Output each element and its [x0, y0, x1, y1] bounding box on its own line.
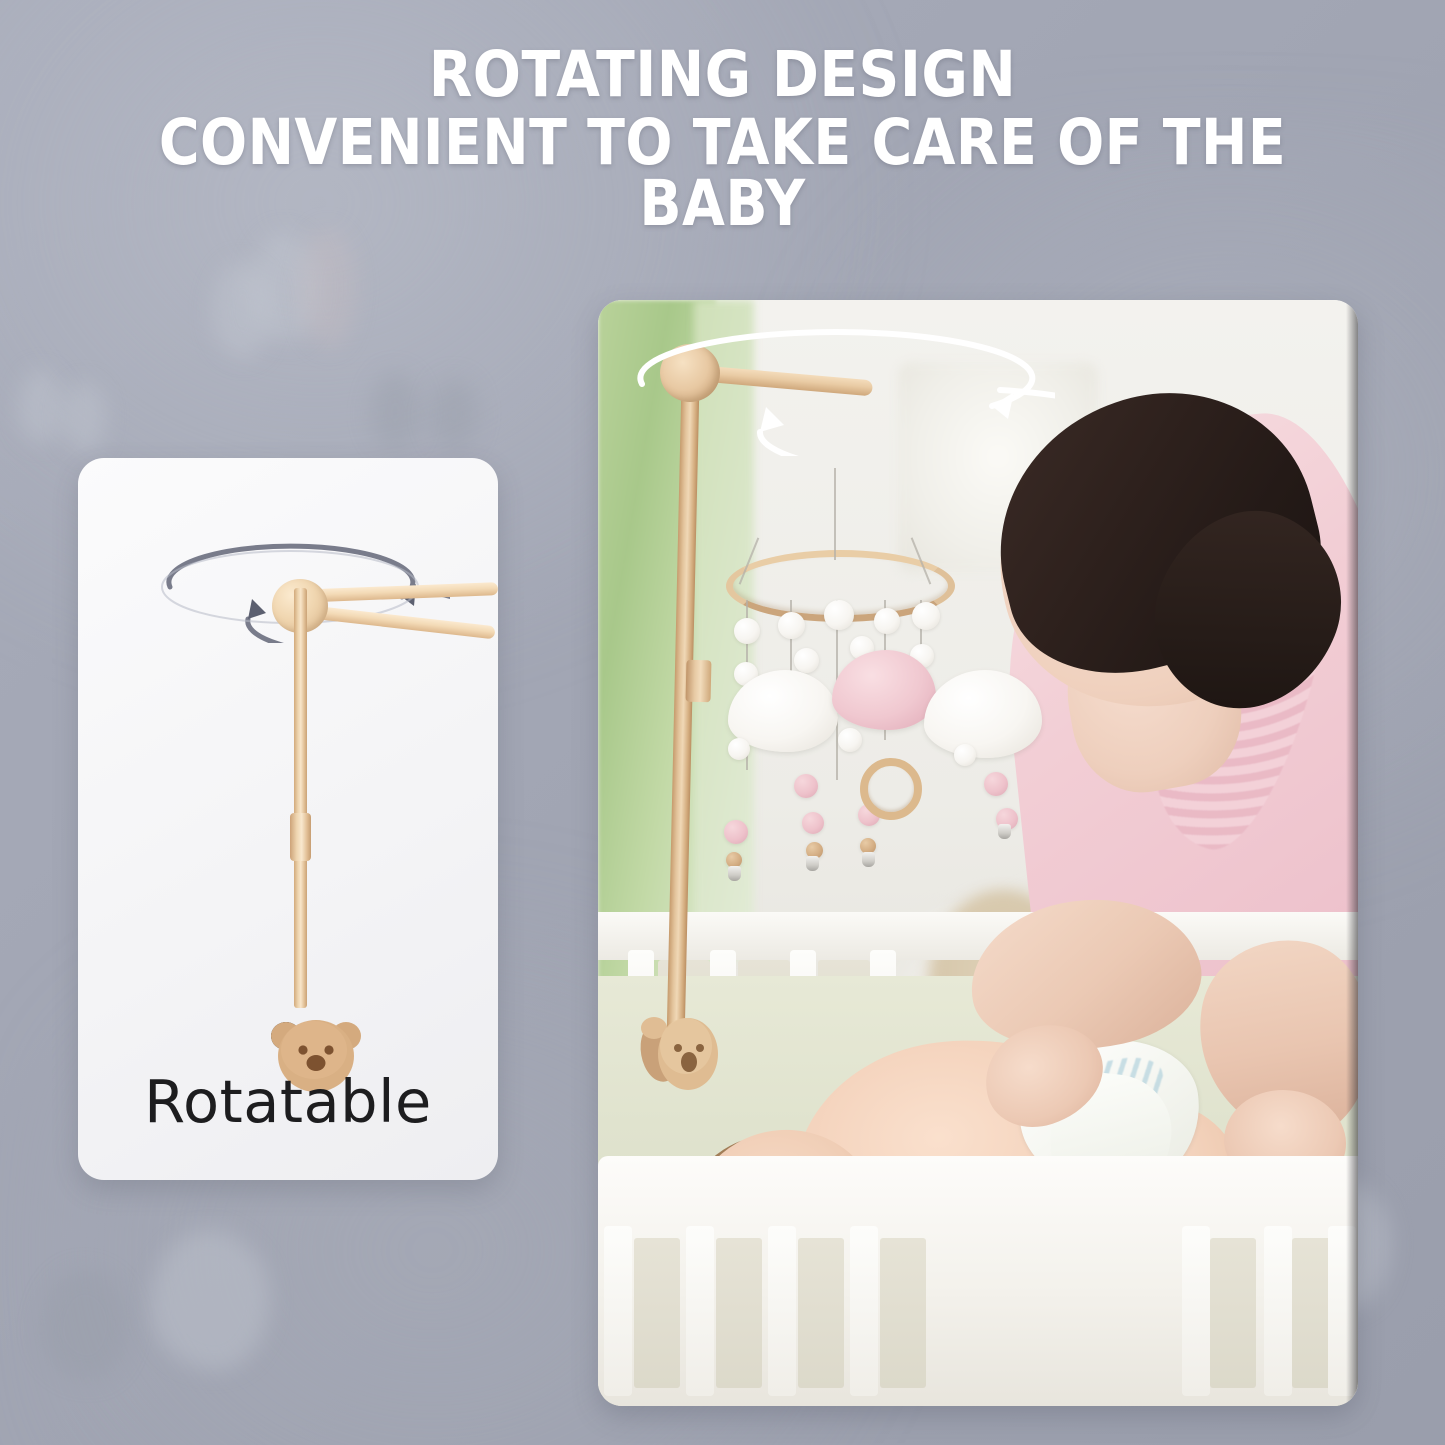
felt-pom-pom — [794, 648, 819, 673]
crib-front-gap — [634, 1238, 680, 1388]
bear-clamp-icon — [634, 1000, 730, 1096]
background-ghost-shape — [370, 372, 420, 450]
felt-pom-pom — [912, 602, 940, 630]
product-rod-collar — [290, 813, 311, 861]
background-ghost-shape — [62, 382, 106, 452]
background-ghost-shape — [212, 262, 272, 358]
felt-pom-pom — [838, 728, 862, 752]
background-ghost-shape — [150, 1230, 270, 1370]
wooden-teething-ring — [860, 758, 922, 820]
felt-pom-pom — [954, 744, 976, 766]
felt-pom-pom-pink — [794, 774, 818, 798]
feature-card: Rotatable — [78, 458, 498, 1180]
crib-front-slat — [1264, 1226, 1292, 1396]
bell-icon — [806, 856, 819, 871]
headline-line-2: CONVENIENT TO TAKE CARE OF THE BABY — [87, 112, 1359, 235]
feature-card-caption: Rotatable — [78, 1067, 498, 1136]
crib-front-slat — [686, 1226, 714, 1396]
background-ghost-shape — [18, 370, 64, 444]
crib-front-slat — [604, 1226, 632, 1396]
crib-front-gap — [1210, 1238, 1256, 1388]
product-feature-banner: ROTATING DESIGN CONVENIENT TO TAKE CARE … — [0, 0, 1445, 1445]
background-ghost-shape — [430, 378, 478, 450]
crib-front-slat — [850, 1226, 878, 1396]
crib-front-gap — [798, 1238, 844, 1388]
felt-pom-pom — [824, 600, 854, 630]
headline-line-1: ROTATING DESIGN — [72, 44, 1373, 106]
felt-pom-pom-pink — [802, 812, 824, 834]
mobile-hang-string — [834, 468, 836, 560]
bell-icon — [862, 852, 875, 867]
crib-front-slat — [768, 1226, 796, 1396]
felt-pom-pom — [734, 618, 760, 644]
crib-front-gap — [716, 1238, 762, 1388]
felt-pom-pom — [728, 738, 750, 760]
mobile-rod-collar — [686, 660, 712, 703]
headline: ROTATING DESIGN CONVENIENT TO TAKE CARE … — [0, 44, 1445, 235]
felt-pom-pom-pink — [724, 820, 748, 844]
background-ghost-shape — [300, 228, 356, 348]
rotation-ellipse-overlay-icon — [600, 328, 1055, 456]
felt-pom-pom — [778, 612, 805, 639]
background-ghost-shape — [40, 1270, 130, 1380]
product-rod — [294, 588, 307, 1008]
crib-front-slat — [1182, 1226, 1210, 1396]
photo-right-shadow — [1346, 300, 1358, 1406]
bell-icon — [998, 824, 1011, 839]
felt-pom-pom-pink — [984, 772, 1008, 796]
lifestyle-photo — [598, 300, 1358, 1406]
felt-pom-pom — [874, 608, 900, 634]
crib-front-gap — [880, 1238, 926, 1388]
bell-icon — [728, 866, 741, 881]
